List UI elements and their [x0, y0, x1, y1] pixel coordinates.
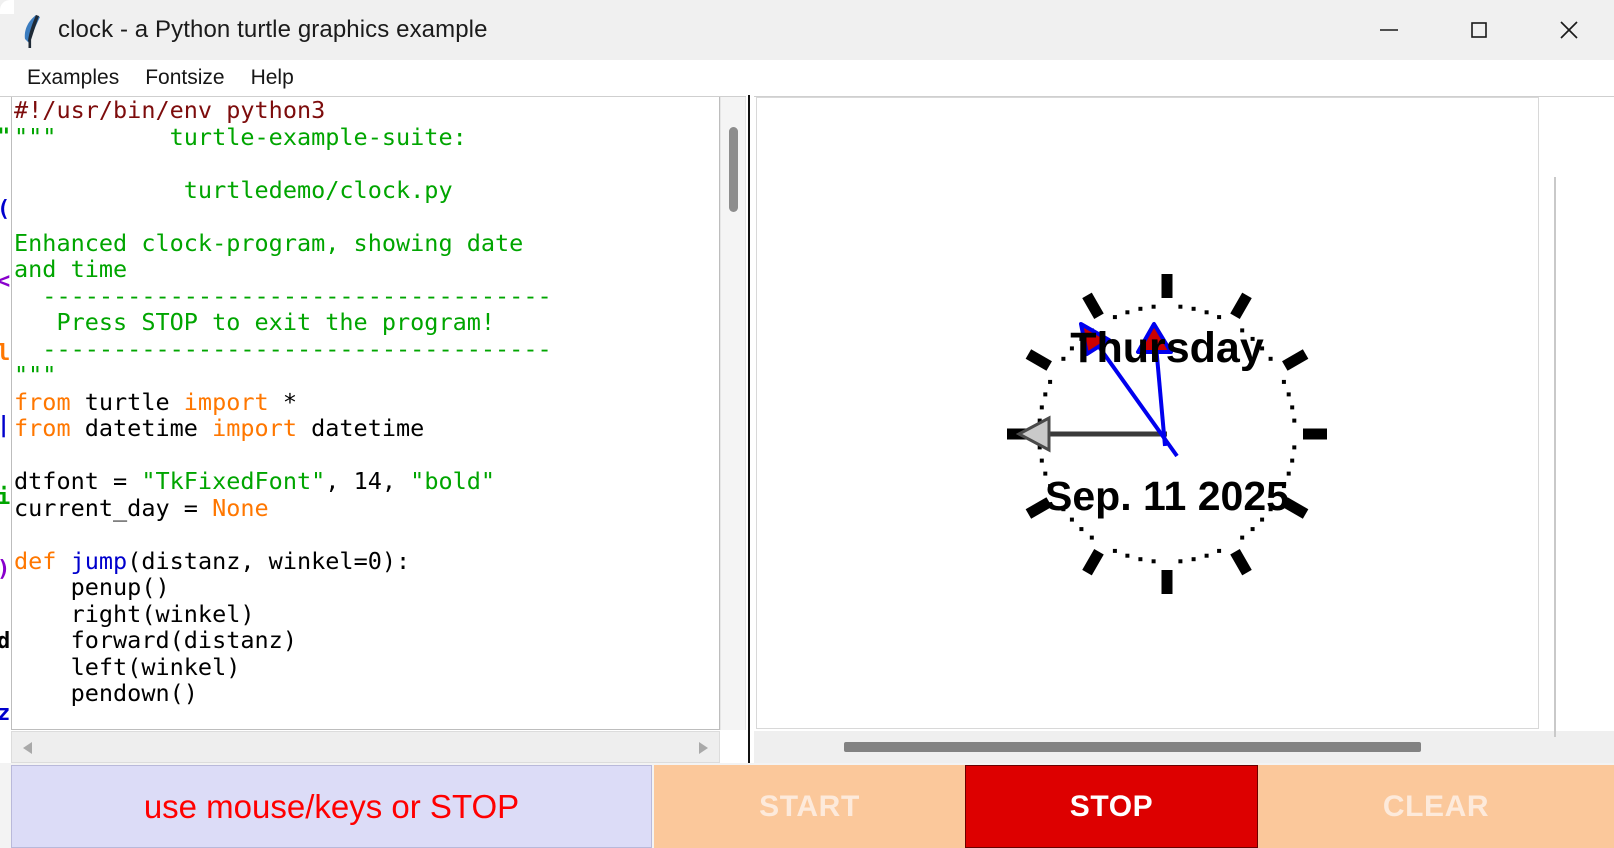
- code-token: forward(distanz): [14, 626, 297, 654]
- status-text: use mouse/keys or STOP: [144, 788, 519, 826]
- hour-mark: [1087, 295, 1099, 316]
- hour-mark: [1285, 354, 1306, 366]
- code-token: penup(): [14, 573, 170, 601]
- code-line: right(winkel): [14, 601, 714, 628]
- clipped-text-fragment: z: [0, 701, 10, 726]
- code-token: from: [14, 414, 71, 442]
- code-token: jump: [71, 547, 128, 575]
- minute-dot: [1217, 315, 1221, 319]
- minute-dot: [1178, 305, 1182, 309]
- code-line: turtledemo/clock.py: [14, 177, 714, 204]
- minute-dot: [1113, 315, 1117, 319]
- code-line: Press STOP to exit the program!: [14, 309, 714, 336]
- code-token: pendown(): [14, 679, 198, 707]
- code-token: "TkFixedFont": [141, 467, 325, 495]
- hour-mark: [1028, 354, 1049, 366]
- code-token: datetime: [297, 414, 424, 442]
- code-vertical-scrollbar[interactable]: [720, 97, 746, 730]
- title-bar: clock - a Python turtle graphics example: [0, 0, 1614, 61]
- clipped-text-fragment: <: [0, 269, 10, 294]
- clock-day-label: Thursday: [1070, 324, 1264, 372]
- minute-dot: [1205, 554, 1209, 558]
- minute-dot: [1217, 549, 1221, 553]
- code-line: def jump(distanz, winkel=0):: [14, 548, 714, 575]
- clipped-text-fragment: l: [0, 341, 10, 366]
- code-token: Enhanced clock-program, showing date: [14, 229, 523, 257]
- minute-dot: [1061, 357, 1065, 361]
- code-text: #!/usr/bin/env python3""" turtle-example…: [14, 97, 714, 707]
- code-line: forward(distanz): [14, 627, 714, 654]
- code-line: [14, 442, 714, 469]
- code-token: None: [212, 494, 269, 522]
- clipped-text-fragment: |: [0, 413, 10, 438]
- code-vertical-scrollbar-thumb[interactable]: [729, 127, 738, 212]
- hour-mark: [1235, 295, 1247, 316]
- code-token: from: [14, 388, 71, 416]
- minute-dot: [1043, 392, 1047, 396]
- sash-line: [748, 95, 750, 763]
- minute-dot: [1040, 459, 1044, 463]
- minute-dot: [1138, 557, 1142, 561]
- code-token: Press STOP to exit the program!: [14, 308, 495, 336]
- code-line: from datetime import datetime: [14, 415, 714, 442]
- code-line: dtfont = "TkFixedFont", 14, "bold": [14, 468, 714, 495]
- code-line: """ turtle-example-suite:: [14, 124, 714, 151]
- minute-dot: [1290, 405, 1294, 409]
- code-line: [14, 150, 714, 177]
- code-token: #!/usr/bin/env python3: [14, 97, 325, 124]
- stop-button[interactable]: STOP: [965, 765, 1258, 848]
- minute-dot: [1282, 380, 1286, 384]
- minimize-icon[interactable]: [1344, 0, 1434, 60]
- pane-sash-divider[interactable]: [746, 95, 754, 763]
- code-token: left(winkel): [14, 653, 240, 681]
- code-token: import: [184, 388, 269, 416]
- clock-drawing: Thursday Sep. 11 2025: [757, 98, 1538, 728]
- close-icon[interactable]: [1524, 0, 1614, 60]
- code-token: """ turtle-example-suite:: [14, 123, 467, 151]
- code-line: Enhanced clock-program, showing date: [14, 230, 714, 257]
- second-hand: [1019, 418, 1167, 450]
- code-token: ------------------------------------: [14, 335, 552, 363]
- minute-dot: [1290, 459, 1294, 463]
- minute-dot: [1205, 310, 1209, 314]
- maximize-icon[interactable]: [1434, 0, 1524, 60]
- minute-dot: [1040, 405, 1044, 409]
- clipped-text-fragment: d: [0, 629, 10, 654]
- code-token: datetime: [71, 414, 212, 442]
- bottom-bar: use mouse/keys or STOP START STOP CLEAR: [0, 763, 1614, 848]
- menu-item-help[interactable]: Help: [238, 64, 307, 92]
- minute-dot: [1292, 419, 1296, 423]
- code-token: ------------------------------------: [14, 282, 552, 310]
- minute-dot: [1048, 380, 1052, 384]
- code-line: ------------------------------------: [14, 283, 714, 310]
- clipped-text-fragment: (: [0, 197, 10, 222]
- clipped-text-fragment: i: [0, 485, 10, 510]
- code-line: current_day = None: [14, 495, 714, 522]
- turtle-canvas-pane[interactable]: Thursday Sep. 11 2025: [756, 97, 1539, 729]
- titlebar-corner: [0, 0, 14, 14]
- clock-date-label: Sep. 11 2025: [1045, 473, 1289, 519]
- canvas-horizontal-scrollbar[interactable]: [754, 731, 1614, 763]
- code-editor-pane[interactable]: #!/usr/bin/env python3""" turtle-example…: [11, 97, 720, 730]
- code-line: ------------------------------------: [14, 336, 714, 363]
- minute-dot: [1125, 554, 1129, 558]
- scroll-left-arrow-icon[interactable]: [20, 740, 36, 761]
- hour-mark: [1087, 552, 1099, 573]
- clipped-text-fragment: ": [0, 125, 10, 150]
- window-controls: [1344, 0, 1614, 60]
- minute-dot: [1287, 392, 1291, 396]
- minute-dot: [1192, 557, 1196, 561]
- code-token: [56, 547, 70, 575]
- right-gutter-line: [1554, 177, 1556, 737]
- minute-dot: [1090, 536, 1094, 540]
- code-token: "bold": [410, 467, 495, 495]
- code-horizontal-scrollbar[interactable]: [11, 731, 720, 763]
- start-button[interactable]: START: [654, 765, 965, 848]
- code-line: [14, 521, 714, 548]
- code-token: , 14,: [325, 467, 410, 495]
- code-line: """: [14, 362, 714, 389]
- code-token: and time: [14, 255, 127, 283]
- code-token: """: [14, 361, 56, 389]
- code-token: def: [14, 547, 56, 575]
- clipped-text-fragment: ): [0, 557, 10, 582]
- code-token: turtledemo/clock.py: [14, 176, 453, 204]
- minute-dot: [1152, 305, 1156, 309]
- canvas-horizontal-scrollbar-thumb[interactable]: [844, 742, 1421, 752]
- scroll-right-arrow-icon[interactable]: [695, 740, 711, 761]
- minute-dot: [1251, 527, 1255, 531]
- code-line: left(winkel): [14, 654, 714, 681]
- code-line: pendown(): [14, 680, 714, 707]
- code-token: import: [212, 414, 297, 442]
- minute-dot: [1240, 536, 1244, 540]
- menu-item-examples[interactable]: Examples: [14, 64, 132, 92]
- minute-dot: [1269, 357, 1273, 361]
- code-line: #!/usr/bin/env python3: [14, 97, 714, 124]
- minute-dot: [1079, 527, 1083, 531]
- menu-bar: Examples Fontsize Help: [0, 60, 1614, 97]
- minute-dot: [1178, 559, 1182, 563]
- minute-dot: [1192, 307, 1196, 311]
- right-gutter: [1539, 97, 1614, 730]
- code-token: right(winkel): [14, 600, 255, 628]
- clipped-left-strip: "(<l|i)dz: [0, 97, 11, 757]
- clear-button[interactable]: CLEAR: [1258, 765, 1614, 848]
- code-line: and time: [14, 256, 714, 283]
- hour-mark: [1235, 552, 1247, 573]
- minute-dot: [1125, 310, 1129, 314]
- code-token: dtfont =: [14, 467, 141, 495]
- minute-dot: [1138, 307, 1142, 311]
- code-token: (distanz, winkel=0):: [127, 547, 410, 575]
- code-line: penup(): [14, 574, 714, 601]
- code-line: [14, 203, 714, 230]
- code-token: *: [269, 388, 297, 416]
- status-field: use mouse/keys or STOP: [11, 765, 652, 848]
- minute-dot: [1152, 559, 1156, 563]
- python-feather-icon: [16, 13, 50, 49]
- code-token: current_day =: [14, 494, 212, 522]
- window-title: clock - a Python turtle graphics example: [58, 0, 488, 60]
- code-line: from turtle import *: [14, 389, 714, 416]
- code-token: turtle: [71, 388, 184, 416]
- minute-dot: [1292, 445, 1296, 449]
- minute-dot: [1113, 549, 1117, 553]
- menu-item-fontsize[interactable]: Fontsize: [132, 64, 237, 92]
